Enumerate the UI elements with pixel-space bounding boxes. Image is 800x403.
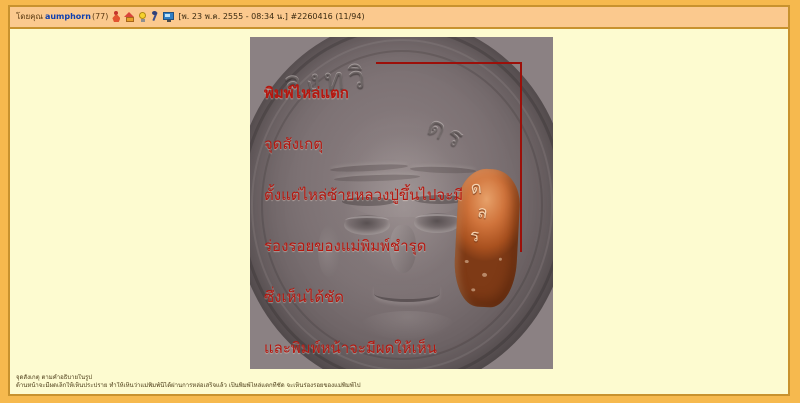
post-author-count: (77)	[92, 12, 108, 22]
annotation-leader-horizontal	[376, 62, 522, 64]
pin-icon[interactable]	[150, 11, 161, 23]
footer-line-2: ด้านหน้าจะมีผดเล็กให้เห็นประปราย ทำให้เห…	[16, 382, 782, 390]
annotation-leader-vertical	[520, 62, 522, 252]
posted-by-label: โดยคุณ	[16, 12, 43, 22]
annotation-line: พิมพ์ไหล่แตก	[264, 85, 463, 102]
footer-line-1: จุดสังเกตุ ตามคำอธิบายในรูป	[16, 374, 782, 382]
copper-glyph: ร	[470, 222, 480, 249]
annotation-line: และพิมพ์หน้าจะมีผดให้เห็น	[264, 340, 463, 357]
post-author-link[interactable]: aumphorn	[45, 12, 91, 22]
person-icon[interactable]	[111, 11, 122, 23]
annotation-line: ร่องรอยของแม่พิมพ์ชำรุด	[264, 238, 463, 255]
lightbulb-icon[interactable]	[137, 11, 148, 23]
post-body: ลงทวิ ดร	[10, 29, 788, 394]
forum-post-frame: โดยคุณ aumphorn (77) [พ. 23 พ.ค. 2555 - …	[8, 5, 790, 396]
annotation-line: ซึ่งเห็นได้ชัด	[264, 289, 463, 306]
post-footer: จุดสังเกตุ ตามคำอธิบายในรูป ด้านหน้าจะมี…	[16, 374, 782, 390]
home-icon[interactable]	[124, 11, 135, 23]
copper-speck	[465, 260, 469, 263]
annotation-text: พิมพ์ไหล่แตก จุดสังเกตุ ตั้งแต่ไหล่ซ้ายห…	[264, 51, 463, 369]
amulet-photo[interactable]: ลงทวิ ดร	[250, 37, 553, 369]
post-timestamp-meta: [พ. 23 พ.ค. 2555 - 08:34 น.] #2260416 (1…	[178, 12, 364, 22]
copper-speck	[499, 258, 502, 261]
post-header-bar: โดยคุณ aumphorn (77) [พ. 23 พ.ค. 2555 - …	[10, 7, 788, 29]
copper-speck	[482, 273, 487, 277]
annotation-line: ตั้งแต่ไหล่ซ้ายหลวงปู่ขึ้นไปจะมี	[264, 187, 463, 204]
monitor-icon[interactable]	[163, 11, 174, 23]
copper-speck	[471, 288, 475, 291]
annotation-line: จุดสังเกตุ	[264, 136, 463, 153]
post-header-icon-group	[111, 11, 174, 23]
